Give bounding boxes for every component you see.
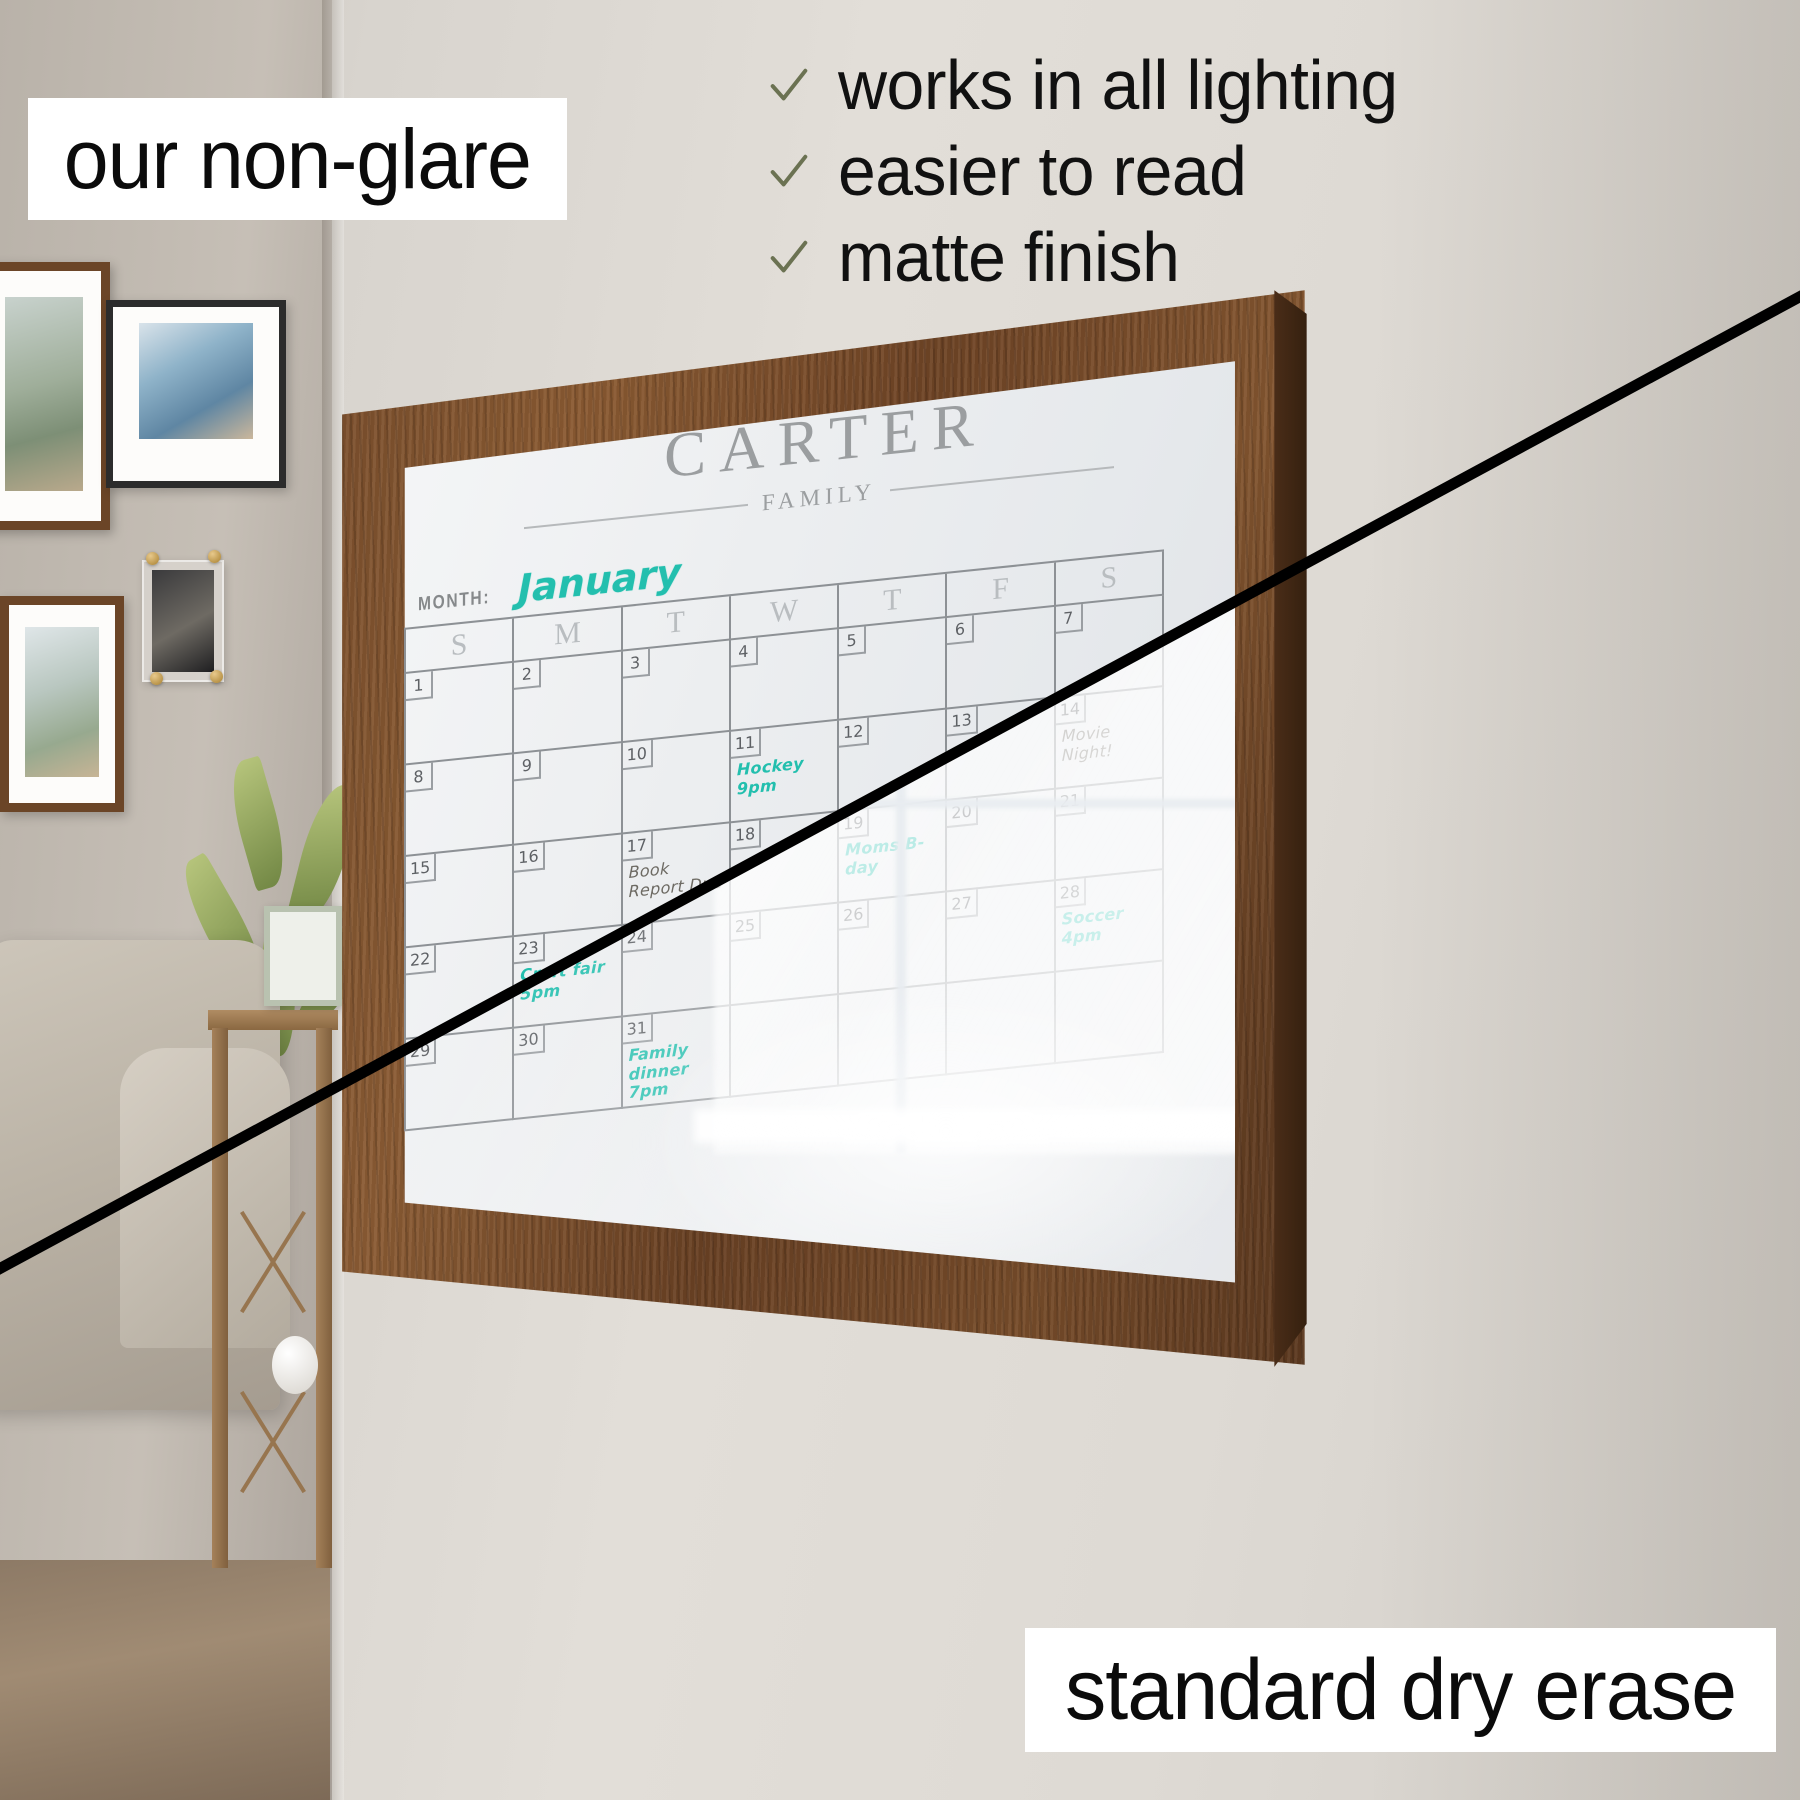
calendar-day-cell[interactable]: 21 bbox=[1056, 779, 1164, 882]
day-number: 25 bbox=[731, 912, 761, 942]
month-value-handwritten[interactable]: January bbox=[518, 555, 681, 606]
day-number: 10 bbox=[623, 740, 653, 770]
feature-label: matte finish bbox=[838, 217, 1179, 297]
day-number: 1 bbox=[406, 671, 433, 701]
calendar-day-cell[interactable]: 4 bbox=[731, 629, 839, 732]
day-number: 22 bbox=[406, 945, 436, 975]
day-number: 17 bbox=[623, 832, 653, 862]
day-number: 3 bbox=[623, 649, 650, 679]
day-number: 11 bbox=[731, 729, 761, 759]
acrylic-photo-clipboard bbox=[142, 560, 224, 682]
clip-left-icon bbox=[146, 552, 159, 565]
clip-bottom-left-icon bbox=[150, 672, 163, 685]
calendar-day-cell[interactable]: 19Moms B-day bbox=[839, 801, 947, 904]
calendar-day-cell[interactable]: 26 bbox=[839, 893, 947, 996]
day-number: 26 bbox=[839, 901, 869, 931]
day-number: 9 bbox=[514, 752, 541, 782]
feature-label: works in all lighting bbox=[838, 45, 1398, 125]
calendar-day-cell[interactable]: 2 bbox=[514, 652, 622, 755]
calendar-entry-handwritten[interactable]: Movie Night! bbox=[1062, 718, 1158, 765]
calendar-day-cell[interactable]: 25 bbox=[731, 904, 839, 1007]
floor bbox=[0, 1560, 330, 1800]
title-rule-right bbox=[890, 466, 1114, 491]
day-number: 27 bbox=[947, 889, 977, 919]
calendar-day-cell[interactable] bbox=[731, 995, 839, 1098]
calendar-day-cell[interactable]: 17Book Report Due bbox=[623, 823, 731, 926]
calendar-day-cell[interactable]: 31Family dinner 7pm bbox=[623, 1006, 731, 1109]
decor-ball bbox=[272, 1336, 318, 1394]
calendar-day-cell[interactable]: 27 bbox=[947, 881, 1055, 984]
day-number: 12 bbox=[839, 718, 869, 748]
day-number: 31 bbox=[623, 1014, 653, 1044]
calendar-body: 1234567891011Hockey 9pm121314Movie Night… bbox=[406, 596, 1164, 1132]
product-image: CARTER FAMILY MONTH: January SMTWTFS 123… bbox=[0, 0, 1800, 1800]
non-glare-label-banner: our non-glare bbox=[28, 98, 567, 220]
calendar-day-cell[interactable] bbox=[1056, 962, 1164, 1065]
calendar-day-cell[interactable]: 1 bbox=[406, 663, 514, 766]
calendar-entry-handwritten[interactable]: Soccer 4pm bbox=[1062, 901, 1158, 948]
day-number: 7 bbox=[1056, 604, 1083, 634]
title-rule-left bbox=[524, 504, 748, 529]
calendar-day-cell[interactable]: 9 bbox=[514, 743, 622, 846]
dry-erase-label-banner: standard dry erase bbox=[1025, 1628, 1776, 1752]
feature-item: matte finish bbox=[766, 214, 1415, 300]
day-number: 2 bbox=[514, 660, 541, 690]
day-number: 23 bbox=[514, 934, 544, 964]
month-label: MONTH: bbox=[418, 587, 490, 617]
feature-item: works in all lighting bbox=[766, 42, 1415, 128]
feature-item: easier to read bbox=[766, 128, 1415, 214]
calendar-day-cell[interactable]: 15 bbox=[406, 846, 514, 949]
calendar-day-cell[interactable]: 10 bbox=[623, 732, 731, 835]
calendar-day-cell[interactable]: 6 bbox=[947, 607, 1055, 710]
check-icon bbox=[766, 62, 812, 108]
check-icon bbox=[766, 148, 812, 194]
day-number: 21 bbox=[1056, 787, 1086, 817]
calendar-day-cell[interactable]: 24 bbox=[623, 915, 731, 1018]
framed-photo-landscape bbox=[0, 262, 110, 530]
calendar-entry-handwritten[interactable]: Hockey 9pm bbox=[737, 752, 833, 799]
day-number: 16 bbox=[514, 843, 544, 873]
calendar-entry-handwritten[interactable]: Moms B-day bbox=[845, 832, 941, 879]
calendar-day-cell[interactable]: 11Hockey 9pm bbox=[731, 721, 839, 824]
day-number: 13 bbox=[947, 706, 977, 736]
family-subtitle: FAMILY bbox=[762, 479, 876, 517]
calendar-day-cell[interactable]: 30 bbox=[514, 1018, 622, 1121]
day-number: 20 bbox=[947, 798, 977, 828]
day-number: 30 bbox=[514, 1026, 544, 1056]
framed-photo-baby bbox=[106, 300, 286, 488]
calendar-content: CARTER FAMILY MONTH: January SMTWTFS 123… bbox=[404, 360, 1234, 1250]
framed-photo-watercolor bbox=[0, 596, 124, 812]
day-number: 4 bbox=[731, 638, 758, 668]
clip-right-icon bbox=[208, 550, 221, 563]
non-glare-label-text: our non-glare bbox=[64, 111, 531, 208]
calendar-day-cell[interactable]: 8 bbox=[406, 754, 514, 857]
framed-calendar-board: CARTER FAMILY MONTH: January SMTWTFS 123… bbox=[330, 288, 1340, 1398]
day-number: 8 bbox=[406, 763, 433, 793]
day-number: 15 bbox=[406, 854, 436, 884]
wall-shading-right bbox=[1370, 0, 1800, 1800]
calendar-day-cell[interactable]: 5 bbox=[839, 618, 947, 721]
day-number: 6 bbox=[947, 615, 974, 645]
calendar-day-cell[interactable]: 20 bbox=[947, 790, 1055, 893]
calendar-day-cell[interactable]: 14Movie Night! bbox=[1056, 687, 1164, 790]
calendar-day-cell[interactable]: 28Soccer 4pm bbox=[1056, 870, 1164, 973]
day-number: 5 bbox=[839, 627, 866, 657]
clip-bottom-right-icon bbox=[210, 670, 223, 683]
calendar-day-cell[interactable]: 16 bbox=[514, 835, 622, 938]
calendar-day-cell[interactable] bbox=[947, 973, 1055, 1076]
feature-list: works in all lightingeasier to readmatte… bbox=[766, 42, 1415, 300]
day-number: 18 bbox=[731, 820, 761, 850]
calendar-day-cell[interactable]: 3 bbox=[623, 641, 731, 744]
dry-erase-label-text: standard dry erase bbox=[1065, 1641, 1736, 1740]
feature-label: easier to read bbox=[838, 131, 1246, 211]
calendar-day-cell[interactable] bbox=[839, 984, 947, 1087]
frame-side-edge bbox=[1274, 290, 1306, 1367]
day-number: 28 bbox=[1056, 878, 1086, 908]
check-icon bbox=[766, 234, 812, 280]
calendar-entry-handwritten[interactable]: Family dinner 7pm bbox=[629, 1037, 725, 1102]
